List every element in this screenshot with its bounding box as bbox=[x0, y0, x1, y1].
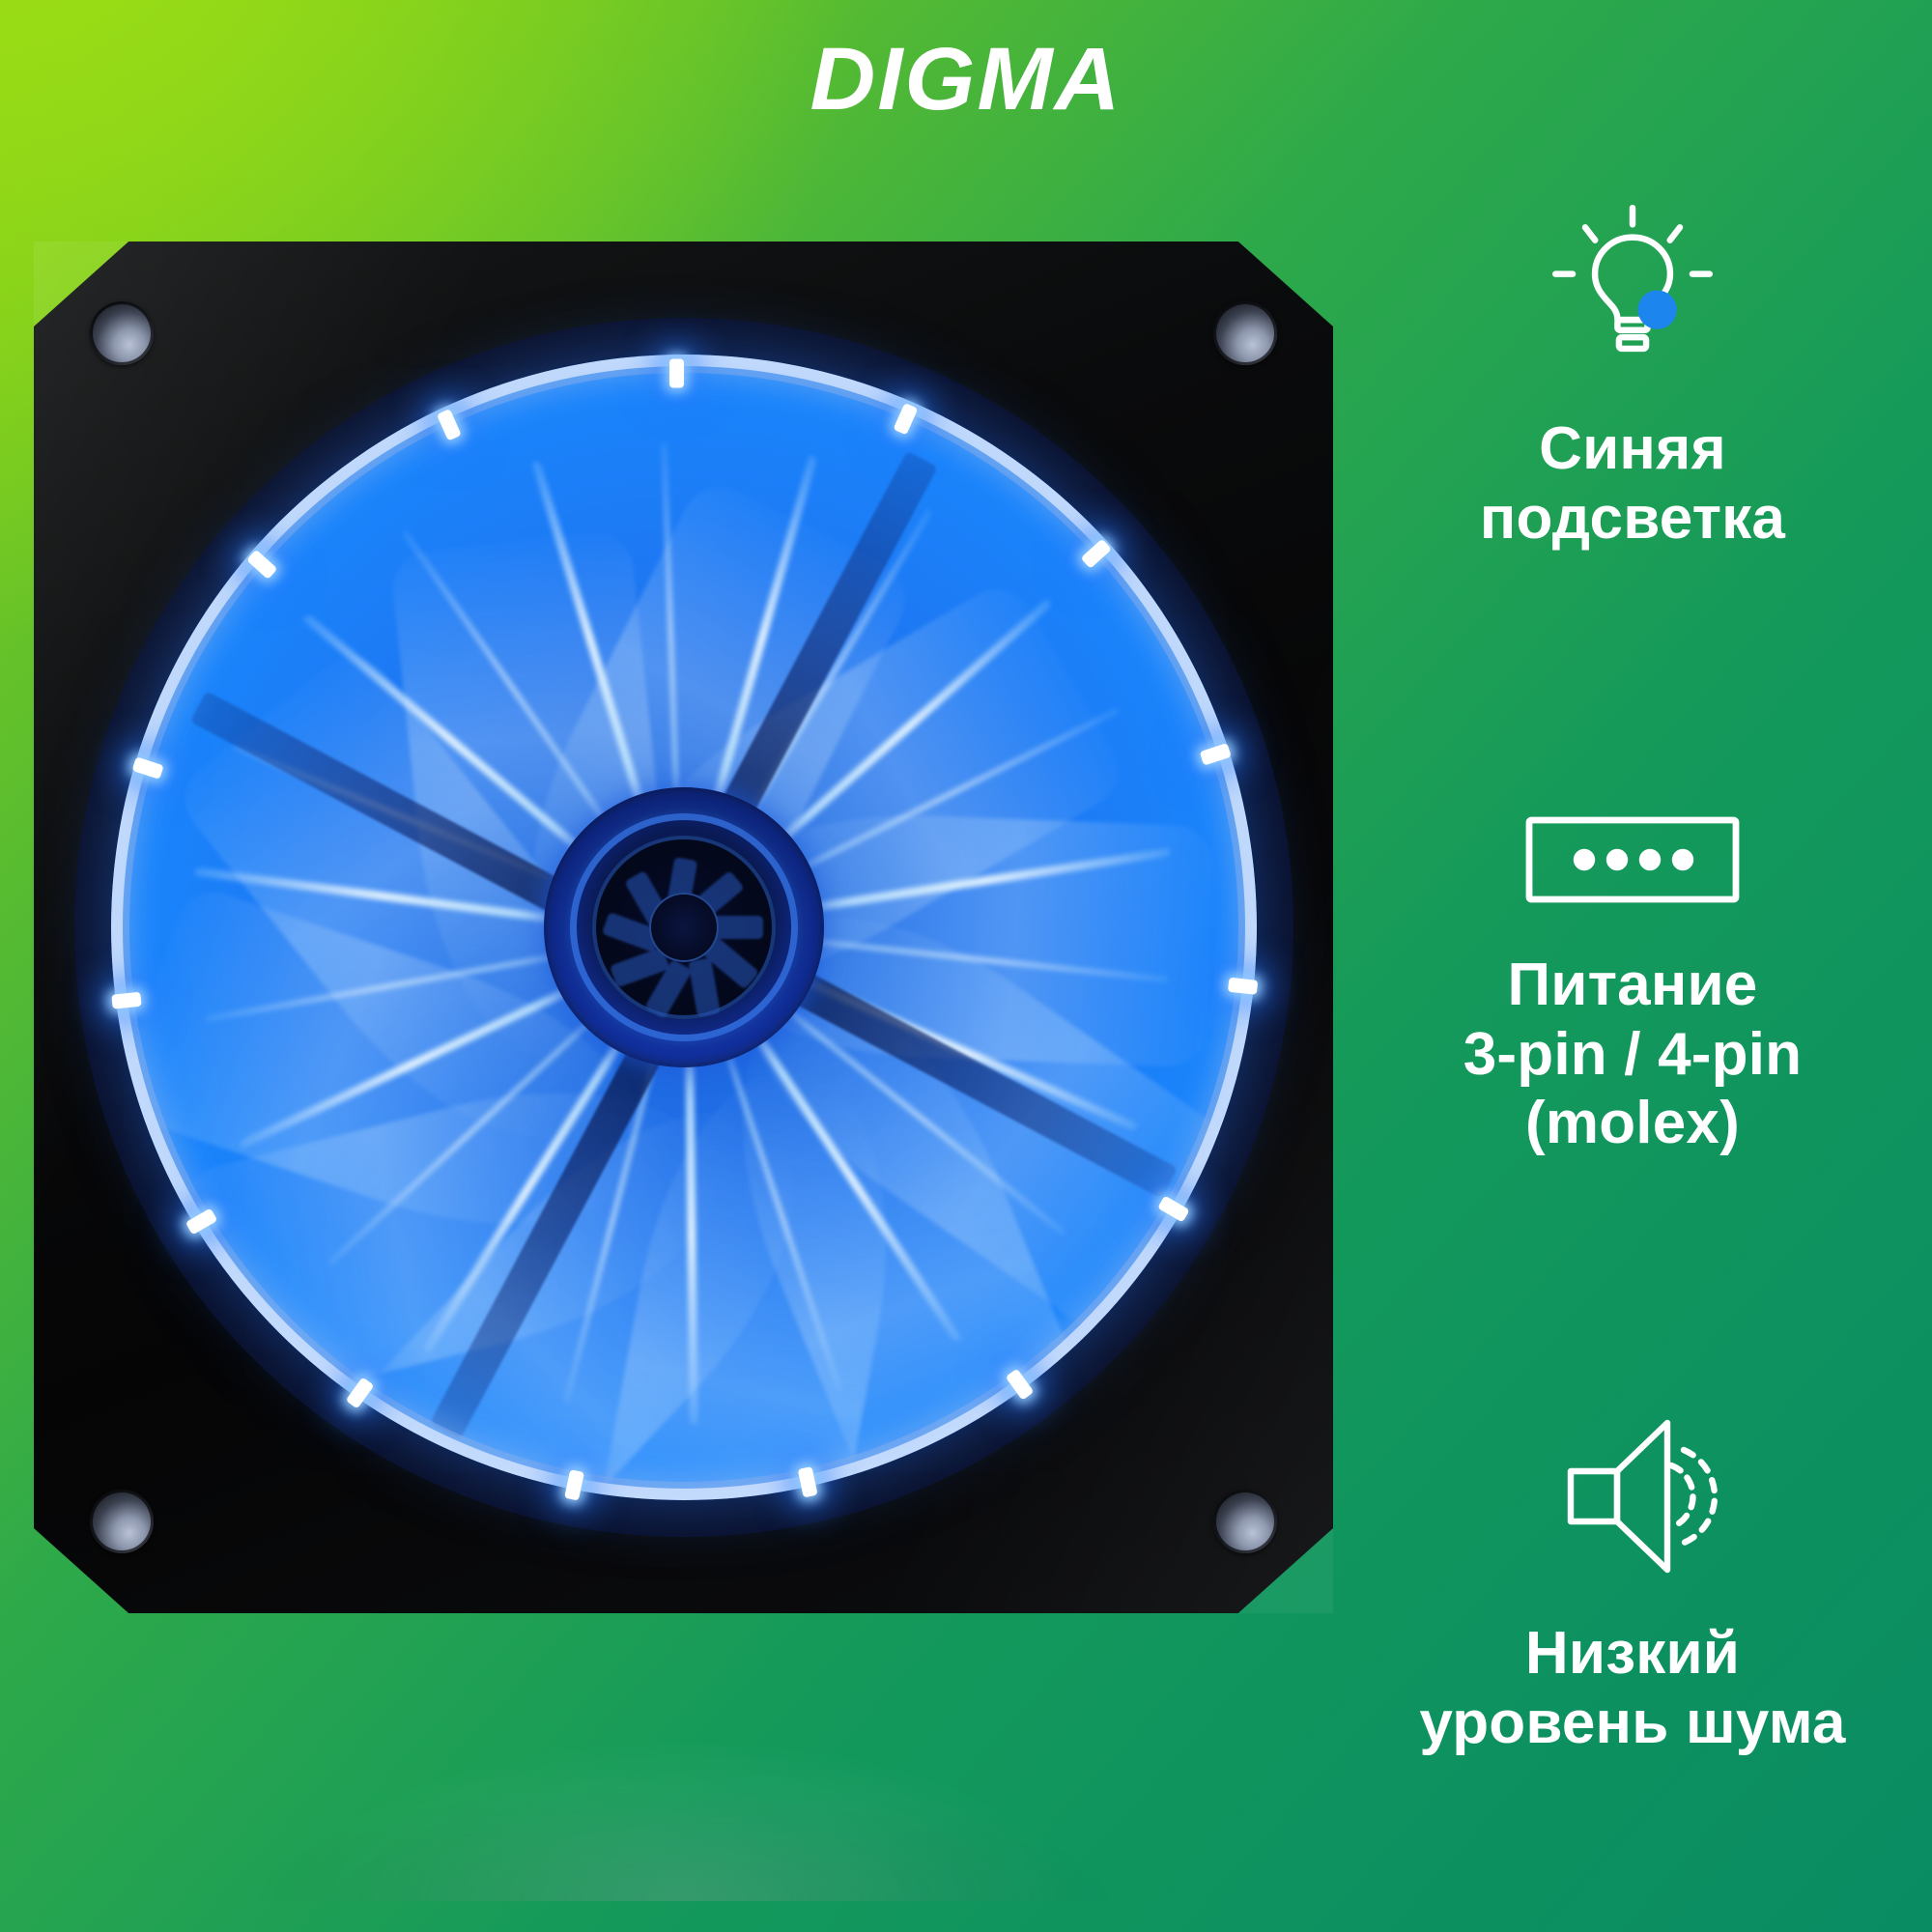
hub-center-cap bbox=[649, 893, 719, 962]
product-reflection bbox=[34, 1611, 1333, 1901]
screw-hole bbox=[1213, 1490, 1277, 1553]
feature-blue-backlight: Синяя подсветка bbox=[1352, 193, 1913, 554]
feature-line: уровень шума bbox=[1419, 1689, 1845, 1758]
feature-caption: Низкий уровень шума bbox=[1419, 1619, 1845, 1758]
feature-caption: Синяя подсветка bbox=[1480, 414, 1785, 554]
feature-caption: Питание 3-pin / 4-pin (molex) bbox=[1463, 951, 1802, 1159]
fan-impeller bbox=[111, 355, 1257, 1500]
brand-logo: DIGMA bbox=[0, 35, 1932, 124]
feature-line: Синяя bbox=[1480, 414, 1785, 484]
feature-low-noise: Низкий уровень шума bbox=[1352, 1411, 1913, 1758]
lightbulb-icon bbox=[1541, 193, 1724, 382]
product-image-led-fan bbox=[34, 241, 1333, 1613]
feature-line: Низкий bbox=[1419, 1619, 1845, 1689]
fan-blade bbox=[589, 1048, 921, 1500]
speaker-low-noise-icon bbox=[1536, 1411, 1729, 1586]
feature-line: подсветка bbox=[1480, 484, 1785, 554]
feature-line: (molex) bbox=[1463, 1089, 1802, 1158]
fan-hub bbox=[544, 787, 824, 1067]
feature-line: Питание bbox=[1463, 951, 1802, 1020]
screw-hole bbox=[90, 301, 154, 365]
feature-line: 3-pin / 4-pin bbox=[1463, 1020, 1802, 1090]
screw-hole bbox=[90, 1490, 154, 1553]
feature-list: Синяя подсветка Питание 3-pin / 4-pin (m… bbox=[1352, 193, 1913, 1758]
feature-power-connector: Питание 3-pin / 4-pin (molex) bbox=[1352, 807, 1913, 1159]
power-connector-icon bbox=[1520, 807, 1745, 918]
screw-hole bbox=[1213, 301, 1277, 365]
product-banner: DIGMA bbox=[0, 0, 1932, 1932]
